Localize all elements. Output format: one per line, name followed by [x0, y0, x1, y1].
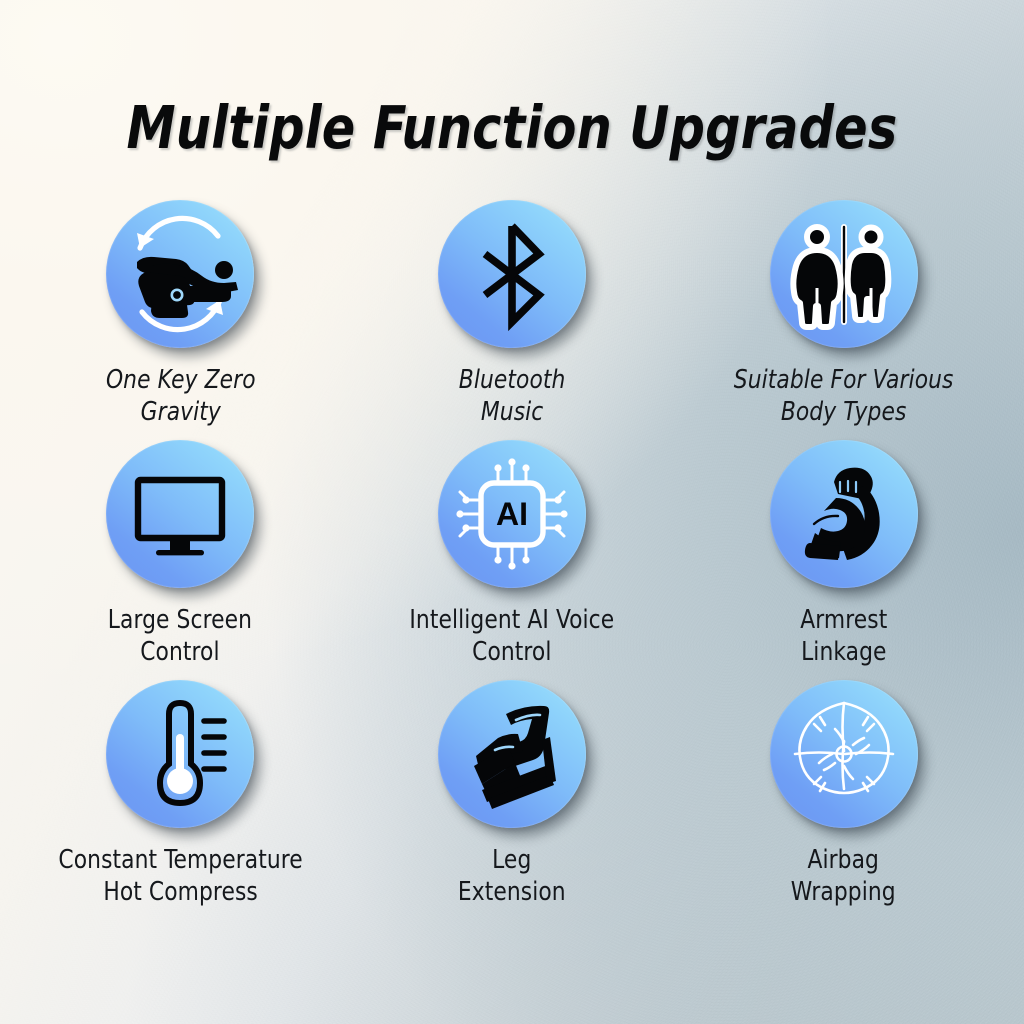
icon-disc-airbag-wrapping: [770, 680, 918, 828]
feature-label: Constant Temperature Hot Compress: [58, 845, 302, 909]
icon-disc-hot-compress: [106, 680, 254, 828]
icon-disc-armrest-linkage: [770, 440, 918, 588]
bluetooth-icon: [438, 200, 586, 348]
feature-label: Airbag Wrapping: [791, 845, 896, 909]
disc-background: [106, 680, 254, 828]
feature-label: Large Screen Control: [108, 605, 252, 669]
feature-tile-body-types[interactable]: Suitable For Various Body Types: [675, 200, 1002, 440]
feature-label: Leg Extension: [458, 845, 566, 909]
feature-label: Suitable For Various Body Types: [734, 365, 954, 429]
zero-gravity-recline-icon: [106, 200, 254, 348]
disc-background: [438, 680, 586, 828]
feature-tile-ai-voice[interactable]: AI Intelligent AI Voice Control: [349, 440, 676, 680]
poster-canvas: Multiple Function Upgrades: [0, 0, 1024, 1024]
feature-label: Bluetooth Music: [459, 365, 566, 429]
feature-tile-leg-extension[interactable]: Leg Extension: [349, 680, 676, 920]
icon-disc-large-screen: [106, 440, 254, 588]
flexed-bicep-icon: [770, 440, 918, 588]
disc-background: AI: [438, 440, 586, 588]
feature-tile-bluetooth-music[interactable]: Bluetooth Music: [349, 200, 676, 440]
disc-background: [438, 200, 586, 348]
feature-tile-zero-gravity[interactable]: One Key Zero Gravity: [22, 200, 349, 440]
ai-chip-icon: AI: [438, 440, 586, 588]
feature-label: Intelligent AI Voice Control: [410, 605, 615, 669]
disc-background: [770, 680, 918, 828]
disc-background: [106, 440, 254, 588]
icon-disc-ai-voice: AI: [438, 440, 586, 588]
icon-disc-zero-gravity: [106, 200, 254, 348]
page-title: Multiple Function Upgrades: [36, 93, 988, 162]
massage-chair-icon: [438, 680, 586, 828]
icon-disc-body-types: [770, 200, 918, 348]
feature-tile-hot-compress[interactable]: Constant Temperature Hot Compress: [22, 680, 349, 920]
disc-background: [770, 200, 918, 348]
feature-grid: One Key Zero Gravity Bluetooth Music: [22, 200, 1002, 920]
feature-tile-large-screen[interactable]: Large Screen Control: [22, 440, 349, 680]
disc-background: [106, 200, 254, 348]
feature-label: One Key Zero Gravity: [105, 365, 255, 429]
feature-label: Armrest Linkage: [800, 605, 887, 669]
airbag-cushion-icon: [770, 680, 918, 828]
feature-tile-airbag-wrapping[interactable]: Airbag Wrapping: [675, 680, 1002, 920]
feature-tile-armrest-linkage[interactable]: Armrest Linkage: [675, 440, 1002, 680]
monitor-screen-icon: [106, 440, 254, 588]
disc-background: [770, 440, 918, 588]
ai-chip-label: AI: [496, 496, 528, 532]
icon-disc-leg-extension: [438, 680, 586, 828]
icon-disc-bluetooth: [438, 200, 586, 348]
thermometer-heat-icon: [106, 680, 254, 828]
two-body-types-icon: [770, 200, 918, 348]
